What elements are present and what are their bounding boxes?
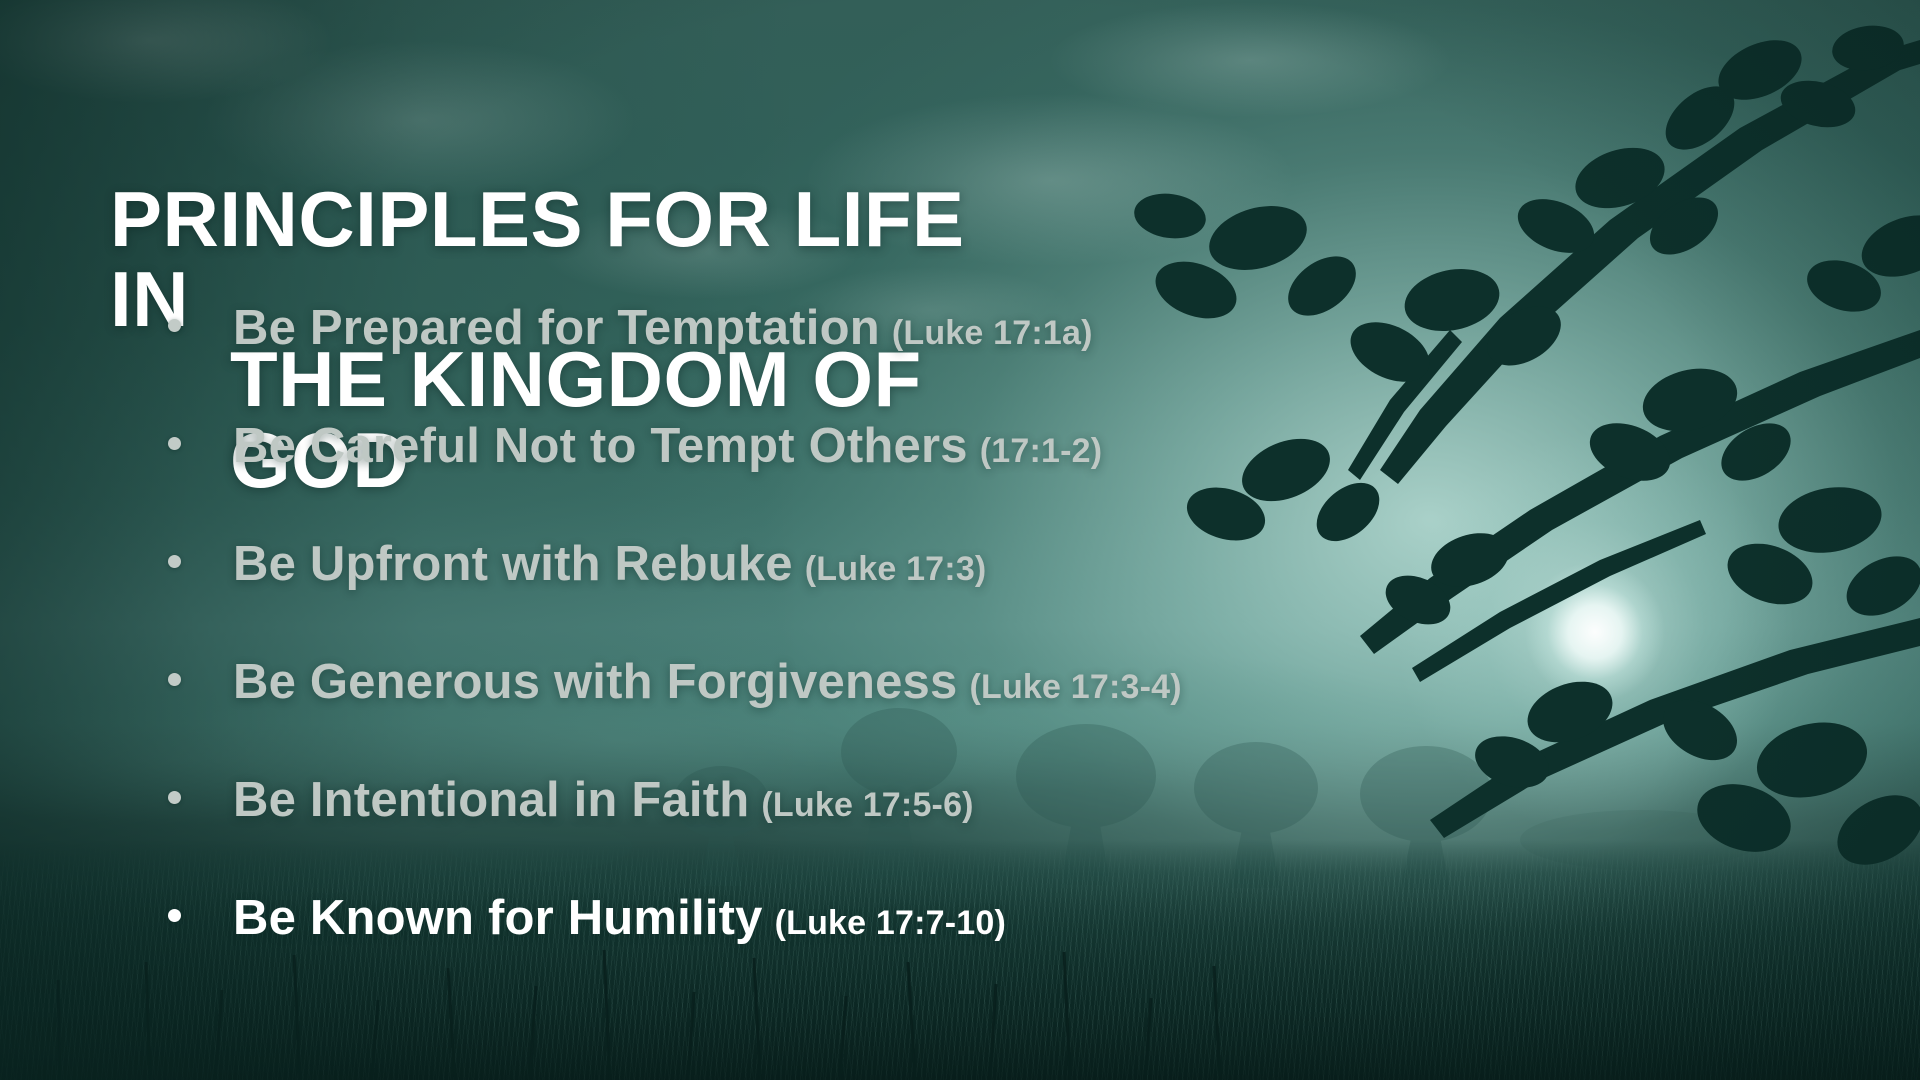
bullet-dot-icon [168,673,181,686]
bullet-scripture-reference: (Luke 17:1a) [892,314,1093,352]
bullet-row: Be Generous with Forgiveness(Luke 17:3-4… [168,654,1428,772]
bullet-dot-icon [168,437,181,450]
bullet-row: Be Upfront with Rebuke(Luke 17:3) [168,536,1428,654]
bullet-row: Be Intentional in Faith(Luke 17:5-6) [168,772,1428,890]
bullet-dot-icon [168,319,181,332]
bullet-label: Be Upfront with Rebuke(Luke 17:3) [233,536,986,592]
bullet-scripture-reference: (17:1-2) [980,432,1103,470]
bullet-row: Be Careful Not to Tempt Others(17:1-2) [168,418,1428,536]
bullet-label: Be Careful Not to Tempt Others(17:1-2) [233,418,1102,474]
presentation-slide: PRINCIPLES FOR LIFE IN THE KINGDOM OF GO… [0,0,1920,1080]
bullet-label: Be Known for Humility(Luke 17:7-10) [233,890,1006,946]
bullet-row: Be Prepared for Temptation(Luke 17:1a) [168,300,1428,418]
bullet-scripture-reference: (Luke 17:5-6) [761,786,973,824]
bullet-row: Be Known for Humility(Luke 17:7-10) [168,890,1428,1008]
bullet-label: Be Generous with Forgiveness(Luke 17:3-4… [233,654,1182,710]
bullet-label: Be Intentional in Faith(Luke 17:5-6) [233,772,974,828]
bullet-list: Be Prepared for Temptation(Luke 17:1a)Be… [168,300,1428,1008]
bullet-scripture-reference: (Luke 17:7-10) [775,904,1006,942]
bullet-scripture-reference: (Luke 17:3-4) [969,668,1181,706]
bullet-dot-icon [168,555,181,568]
bullet-label: Be Prepared for Temptation(Luke 17:1a) [233,300,1093,356]
bullet-scripture-reference: (Luke 17:3) [805,550,987,588]
bullet-dot-icon [168,791,181,804]
bullet-dot-icon [168,909,181,922]
